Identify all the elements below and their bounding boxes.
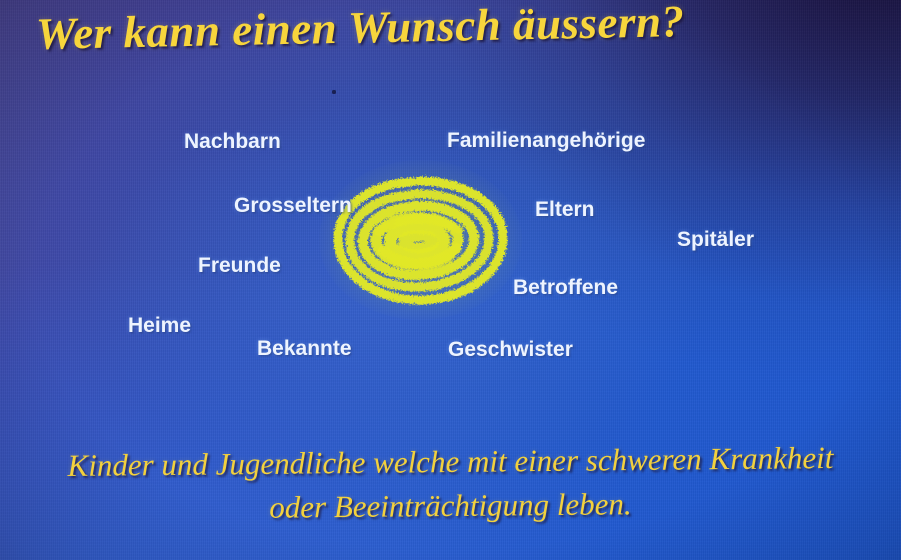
slide-caption: Kinder und Jugendliche welche mit einer … — [0, 440, 901, 528]
cloud-word-geschwister: Geschwister — [448, 338, 573, 362]
cloud-word-familienangehoerige: Familienangehörige — [447, 129, 645, 153]
presentation-slide: Wer kann einen Wunsch äussern? — [0, 0, 901, 560]
cloud-word-freunde: Freunde — [198, 254, 281, 278]
cloud-word-nachbarn: Nachbarn — [184, 130, 281, 154]
caption-line-2: oder Beeinträchtigung leben. — [0, 480, 901, 533]
cloud-word-heime: Heime — [128, 314, 191, 338]
cloud-word-eltern: Eltern — [535, 198, 595, 222]
cloud-word-spitaeler: Spitäler — [677, 228, 754, 252]
cloud-word-betroffene: Betroffene — [513, 276, 618, 300]
cloud-word-grosseltern: Grosseltern — [234, 194, 352, 218]
cloud-word-bekannte: Bekannte — [257, 337, 352, 361]
